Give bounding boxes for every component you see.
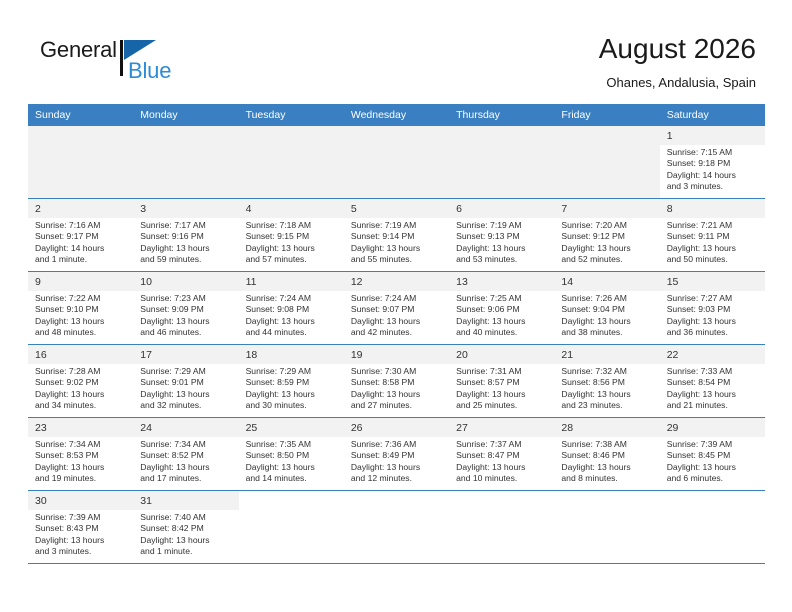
weekday-header-sunday: Sunday [28, 104, 133, 126]
sunrise-text: Sunrise: 7:34 AM [140, 439, 233, 450]
daylight-text-line1: Daylight: 14 hours [35, 243, 128, 254]
calendar-week-row: 16Sunrise: 7:28 AMSunset: 9:02 PMDayligh… [28, 345, 765, 418]
calendar-day-cell[interactable]: 10Sunrise: 7:23 AMSunset: 9:09 PMDayligh… [133, 272, 238, 345]
calendar-day-cell[interactable]: 14Sunrise: 7:26 AMSunset: 9:04 PMDayligh… [554, 272, 659, 345]
weekday-header-wednesday: Wednesday [344, 104, 449, 126]
sunrise-text: Sunrise: 7:21 AM [667, 220, 760, 231]
calendar-cell-empty[interactable] [28, 126, 133, 199]
day-number: 9 [28, 272, 133, 291]
calendar-day-cell[interactable]: 17Sunrise: 7:29 AMSunset: 9:01 PMDayligh… [133, 345, 238, 418]
sunset-text: Sunset: 8:53 PM [35, 450, 128, 461]
daylight-text-line1: Daylight: 13 hours [246, 389, 339, 400]
sunset-text: Sunset: 9:03 PM [667, 304, 760, 315]
daylight-text-line2: and 3 minutes. [667, 181, 760, 192]
sunrise-text: Sunrise: 7:31 AM [456, 366, 549, 377]
sunset-text: Sunset: 8:42 PM [140, 523, 233, 534]
daylight-text-line2: and 1 minute. [35, 254, 128, 265]
daylight-text-line2: and 59 minutes. [140, 254, 233, 265]
day-number: 10 [133, 272, 238, 291]
daylight-text-line1: Daylight: 14 hours [667, 170, 760, 181]
calendar-cell-empty[interactable] [660, 491, 765, 564]
calendar-day-cell[interactable]: 16Sunrise: 7:28 AMSunset: 9:02 PMDayligh… [28, 345, 133, 418]
calendar-day-cell[interactable]: 8Sunrise: 7:21 AMSunset: 9:11 PMDaylight… [660, 199, 765, 272]
day-number: 13 [449, 272, 554, 291]
daylight-text-line2: and 46 minutes. [140, 327, 233, 338]
sunrise-text: Sunrise: 7:35 AM [246, 439, 339, 450]
day-details: Sunrise: 7:18 AMSunset: 9:15 PMDaylight:… [239, 218, 344, 266]
calendar-day-cell[interactable]: 29Sunrise: 7:39 AMSunset: 8:45 PMDayligh… [660, 418, 765, 491]
sunset-text: Sunset: 8:54 PM [667, 377, 760, 388]
daylight-text-line1: Daylight: 13 hours [351, 316, 444, 327]
day-number: 2 [28, 199, 133, 218]
daylight-text-line2: and 53 minutes. [456, 254, 549, 265]
calendar-day-cell[interactable]: 12Sunrise: 7:24 AMSunset: 9:07 PMDayligh… [344, 272, 449, 345]
calendar-cell-empty[interactable] [449, 491, 554, 564]
sunset-text: Sunset: 9:01 PM [140, 377, 233, 388]
day-number: 18 [239, 345, 344, 364]
day-number-placeholder [554, 126, 659, 145]
calendar-cell-empty[interactable] [239, 126, 344, 199]
sunrise-text: Sunrise: 7:38 AM [561, 439, 654, 450]
sunset-text: Sunset: 8:49 PM [351, 450, 444, 461]
sunrise-text: Sunrise: 7:16 AM [35, 220, 128, 231]
calendar-week-row: 2Sunrise: 7:16 AMSunset: 9:17 PMDaylight… [28, 199, 765, 272]
sunrise-text: Sunrise: 7:34 AM [35, 439, 128, 450]
daylight-text-line1: Daylight: 13 hours [351, 462, 444, 473]
day-number: 8 [660, 199, 765, 218]
sunrise-text: Sunrise: 7:29 AM [246, 366, 339, 377]
sunset-text: Sunset: 9:16 PM [140, 231, 233, 242]
sunrise-text: Sunrise: 7:39 AM [667, 439, 760, 450]
day-number-placeholder [133, 126, 238, 145]
calendar-cell-empty[interactable] [449, 126, 554, 199]
calendar-day-cell[interactable]: 31Sunrise: 7:40 AMSunset: 8:42 PMDayligh… [133, 491, 238, 564]
daylight-text-line1: Daylight: 13 hours [246, 243, 339, 254]
day-details: Sunrise: 7:20 AMSunset: 9:12 PMDaylight:… [554, 218, 659, 266]
daylight-text-line2: and 23 minutes. [561, 400, 654, 411]
daylight-text-line2: and 50 minutes. [667, 254, 760, 265]
daylight-text-line2: and 3 minutes. [35, 546, 128, 557]
sunset-text: Sunset: 9:10 PM [35, 304, 128, 315]
calendar-day-cell[interactable]: 21Sunrise: 7:32 AMSunset: 8:56 PMDayligh… [554, 345, 659, 418]
day-details: Sunrise: 7:28 AMSunset: 9:02 PMDaylight:… [28, 364, 133, 412]
sunset-text: Sunset: 9:09 PM [140, 304, 233, 315]
daylight-text-line2: and 12 minutes. [351, 473, 444, 484]
calendar-cell-empty[interactable] [239, 491, 344, 564]
day-number-placeholder [239, 126, 344, 145]
day-number-placeholder [28, 126, 133, 145]
daylight-text-line2: and 55 minutes. [351, 254, 444, 265]
sunset-text: Sunset: 8:50 PM [246, 450, 339, 461]
day-number: 16 [28, 345, 133, 364]
calendar-grid: Sunday Monday Tuesday Wednesday Thursday… [28, 104, 765, 564]
daylight-text-line1: Daylight: 13 hours [561, 389, 654, 400]
brand-triangle-icon [124, 40, 156, 60]
day-number: 15 [660, 272, 765, 291]
sunrise-text: Sunrise: 7:17 AM [140, 220, 233, 231]
day-number: 1 [660, 126, 765, 145]
day-number: 24 [133, 418, 238, 437]
calendar-day-cell[interactable]: 26Sunrise: 7:36 AMSunset: 8:49 PMDayligh… [344, 418, 449, 491]
sunrise-text: Sunrise: 7:36 AM [351, 439, 444, 450]
daylight-text-line1: Daylight: 13 hours [456, 316, 549, 327]
daylight-text-line2: and 25 minutes. [456, 400, 549, 411]
calendar-day-cell[interactable]: 18Sunrise: 7:29 AMSunset: 8:59 PMDayligh… [239, 345, 344, 418]
brand-logo[interactable]: General Blue [40, 38, 240, 94]
day-number: 14 [554, 272, 659, 291]
daylight-text-line1: Daylight: 13 hours [667, 389, 760, 400]
day-details: Sunrise: 7:21 AMSunset: 9:11 PMDaylight:… [660, 218, 765, 266]
sunset-text: Sunset: 8:52 PM [140, 450, 233, 461]
calendar-day-cell[interactable]: 24Sunrise: 7:34 AMSunset: 8:52 PMDayligh… [133, 418, 238, 491]
day-number: 3 [133, 199, 238, 218]
calendar-day-cell[interactable]: 2Sunrise: 7:16 AMSunset: 9:17 PMDaylight… [28, 199, 133, 272]
sunrise-text: Sunrise: 7:29 AM [140, 366, 233, 377]
day-details: Sunrise: 7:33 AMSunset: 8:54 PMDaylight:… [660, 364, 765, 412]
sunset-text: Sunset: 9:13 PM [456, 231, 549, 242]
calendar-day-cell[interactable]: 22Sunrise: 7:33 AMSunset: 8:54 PMDayligh… [660, 345, 765, 418]
daylight-text-line2: and 17 minutes. [140, 473, 233, 484]
day-number: 19 [344, 345, 449, 364]
calendar-day-cell[interactable]: 19Sunrise: 7:30 AMSunset: 8:58 PMDayligh… [344, 345, 449, 418]
daylight-text-line1: Daylight: 13 hours [140, 462, 233, 473]
day-details: Sunrise: 7:16 AMSunset: 9:17 PMDaylight:… [28, 218, 133, 266]
day-details: Sunrise: 7:36 AMSunset: 8:49 PMDaylight:… [344, 437, 449, 485]
sunset-text: Sunset: 9:12 PM [561, 231, 654, 242]
daylight-text-line2: and 21 minutes. [667, 400, 760, 411]
day-details: Sunrise: 7:25 AMSunset: 9:06 PMDaylight:… [449, 291, 554, 339]
sunset-text: Sunset: 9:18 PM [667, 158, 760, 169]
daylight-text-line1: Daylight: 13 hours [456, 243, 549, 254]
calendar-day-cell[interactable]: 9Sunrise: 7:22 AMSunset: 9:10 PMDaylight… [28, 272, 133, 345]
daylight-text-line1: Daylight: 13 hours [561, 316, 654, 327]
day-number: 6 [449, 199, 554, 218]
sunset-text: Sunset: 8:58 PM [351, 377, 444, 388]
daylight-text-line1: Daylight: 13 hours [561, 243, 654, 254]
day-details: Sunrise: 7:29 AMSunset: 8:59 PMDaylight:… [239, 364, 344, 412]
calendar-week-row: 1Sunrise: 7:15 AMSunset: 9:18 PMDaylight… [28, 126, 765, 199]
sunrise-text: Sunrise: 7:32 AM [561, 366, 654, 377]
sunset-text: Sunset: 9:07 PM [351, 304, 444, 315]
page-subtitle: Ohanes, Andalusia, Spain [599, 74, 756, 92]
daylight-text-line2: and 1 minute. [140, 546, 233, 557]
day-details: Sunrise: 7:39 AMSunset: 8:45 PMDaylight:… [660, 437, 765, 485]
daylight-text-line1: Daylight: 13 hours [351, 389, 444, 400]
day-details: Sunrise: 7:31 AMSunset: 8:57 PMDaylight:… [449, 364, 554, 412]
sunset-text: Sunset: 8:43 PM [35, 523, 128, 534]
day-number: 22 [660, 345, 765, 364]
day-number: 7 [554, 199, 659, 218]
day-details: Sunrise: 7:24 AMSunset: 9:08 PMDaylight:… [239, 291, 344, 339]
daylight-text-line2: and 48 minutes. [35, 327, 128, 338]
sunrise-text: Sunrise: 7:20 AM [561, 220, 654, 231]
daylight-text-line1: Daylight: 13 hours [35, 389, 128, 400]
sunset-text: Sunset: 9:04 PM [561, 304, 654, 315]
day-number: 12 [344, 272, 449, 291]
sunrise-text: Sunrise: 7:15 AM [667, 147, 760, 158]
day-details: Sunrise: 7:29 AMSunset: 9:01 PMDaylight:… [133, 364, 238, 412]
calendar-day-cell[interactable]: 15Sunrise: 7:27 AMSunset: 9:03 PMDayligh… [660, 272, 765, 345]
day-number: 21 [554, 345, 659, 364]
calendar-cell-empty[interactable] [344, 491, 449, 564]
calendar-day-cell[interactable]: 4Sunrise: 7:18 AMSunset: 9:15 PMDaylight… [239, 199, 344, 272]
calendar-page: General Blue August 2026 Ohanes, Andalus… [0, 0, 792, 612]
day-number: 27 [449, 418, 554, 437]
calendar-day-cell[interactable]: 20Sunrise: 7:31 AMSunset: 8:57 PMDayligh… [449, 345, 554, 418]
daylight-text-line1: Daylight: 13 hours [456, 389, 549, 400]
day-details: Sunrise: 7:32 AMSunset: 8:56 PMDaylight:… [554, 364, 659, 412]
sunrise-text: Sunrise: 7:30 AM [351, 366, 444, 377]
day-number: 4 [239, 199, 344, 218]
calendar-week-row: 9Sunrise: 7:22 AMSunset: 9:10 PMDaylight… [28, 272, 765, 345]
weekday-header-saturday: Saturday [660, 104, 765, 126]
daylight-text-line2: and 27 minutes. [351, 400, 444, 411]
daylight-text-line1: Daylight: 13 hours [140, 389, 233, 400]
daylight-text-line1: Daylight: 13 hours [351, 243, 444, 254]
day-number: 20 [449, 345, 554, 364]
sunset-text: Sunset: 8:46 PM [561, 450, 654, 461]
weekday-header-tuesday: Tuesday [239, 104, 344, 126]
day-number: 11 [239, 272, 344, 291]
daylight-text-line1: Daylight: 13 hours [561, 462, 654, 473]
daylight-text-line1: Daylight: 13 hours [140, 535, 233, 546]
sunrise-text: Sunrise: 7:18 AM [246, 220, 339, 231]
day-details: Sunrise: 7:39 AMSunset: 8:43 PMDaylight:… [28, 510, 133, 558]
day-details: Sunrise: 7:34 AMSunset: 8:53 PMDaylight:… [28, 437, 133, 485]
daylight-text-line1: Daylight: 13 hours [667, 316, 760, 327]
day-number-placeholder [344, 126, 449, 145]
calendar-day-cell[interactable]: 25Sunrise: 7:35 AMSunset: 8:50 PMDayligh… [239, 418, 344, 491]
day-number: 17 [133, 345, 238, 364]
calendar-day-cell[interactable]: 3Sunrise: 7:17 AMSunset: 9:16 PMDaylight… [133, 199, 238, 272]
day-number-placeholder [449, 126, 554, 145]
daylight-text-line2: and 36 minutes. [667, 327, 760, 338]
sunset-text: Sunset: 9:08 PM [246, 304, 339, 315]
weekday-header-monday: Monday [133, 104, 238, 126]
daylight-text-line2: and 40 minutes. [456, 327, 549, 338]
day-number: 31 [133, 491, 238, 510]
daylight-text-line1: Daylight: 13 hours [35, 316, 128, 327]
sunset-text: Sunset: 8:47 PM [456, 450, 549, 461]
day-details: Sunrise: 7:17 AMSunset: 9:16 PMDaylight:… [133, 218, 238, 266]
daylight-text-line2: and 19 minutes. [35, 473, 128, 484]
sunrise-text: Sunrise: 7:33 AM [667, 366, 760, 377]
calendar-cell-empty[interactable] [344, 126, 449, 199]
daylight-text-line2: and 57 minutes. [246, 254, 339, 265]
daylight-text-line1: Daylight: 13 hours [456, 462, 549, 473]
daylight-text-line1: Daylight: 13 hours [246, 462, 339, 473]
sunrise-text: Sunrise: 7:40 AM [140, 512, 233, 523]
daylight-text-line1: Daylight: 13 hours [667, 243, 760, 254]
sunrise-text: Sunrise: 7:37 AM [456, 439, 549, 450]
calendar-day-cell[interactable]: 30Sunrise: 7:39 AMSunset: 8:43 PMDayligh… [28, 491, 133, 564]
sunset-text: Sunset: 9:11 PM [667, 231, 760, 242]
sunrise-text: Sunrise: 7:39 AM [35, 512, 128, 523]
sunset-text: Sunset: 8:57 PM [456, 377, 549, 388]
day-number: 5 [344, 199, 449, 218]
day-number: 29 [660, 418, 765, 437]
sunrise-text: Sunrise: 7:22 AM [35, 293, 128, 304]
day-details: Sunrise: 7:40 AMSunset: 8:42 PMDaylight:… [133, 510, 238, 558]
day-details: Sunrise: 7:27 AMSunset: 9:03 PMDaylight:… [660, 291, 765, 339]
sunrise-text: Sunrise: 7:28 AM [35, 366, 128, 377]
day-details: Sunrise: 7:37 AMSunset: 8:47 PMDaylight:… [449, 437, 554, 485]
sunrise-text: Sunrise: 7:27 AM [667, 293, 760, 304]
day-details: Sunrise: 7:34 AMSunset: 8:52 PMDaylight:… [133, 437, 238, 485]
sunrise-text: Sunrise: 7:24 AM [351, 293, 444, 304]
daylight-text-line2: and 8 minutes. [561, 473, 654, 484]
sunrise-text: Sunrise: 7:19 AM [351, 220, 444, 231]
brand-divider-bar [120, 40, 123, 76]
day-number: 26 [344, 418, 449, 437]
daylight-text-line2: and 38 minutes. [561, 327, 654, 338]
daylight-text-line2: and 44 minutes. [246, 327, 339, 338]
calendar-body: 1Sunrise: 7:15 AMSunset: 9:18 PMDaylight… [28, 126, 765, 564]
weekday-header-friday: Friday [554, 104, 659, 126]
daylight-text-line2: and 30 minutes. [246, 400, 339, 411]
sunrise-text: Sunrise: 7:19 AM [456, 220, 549, 231]
sunset-text: Sunset: 9:06 PM [456, 304, 549, 315]
day-details: Sunrise: 7:22 AMSunset: 9:10 PMDaylight:… [28, 291, 133, 339]
sunset-text: Sunset: 9:02 PM [35, 377, 128, 388]
daylight-text-line1: Daylight: 13 hours [35, 462, 128, 473]
daylight-text-line2: and 10 minutes. [456, 473, 549, 484]
daylight-text-line2: and 52 minutes. [561, 254, 654, 265]
sunrise-text: Sunrise: 7:23 AM [140, 293, 233, 304]
daylight-text-line1: Daylight: 13 hours [140, 316, 233, 327]
page-title: August 2026 [599, 32, 756, 66]
sunrise-text: Sunrise: 7:24 AM [246, 293, 339, 304]
daylight-text-line1: Daylight: 13 hours [246, 316, 339, 327]
day-details: Sunrise: 7:15 AMSunset: 9:18 PMDaylight:… [660, 145, 765, 193]
day-details: Sunrise: 7:24 AMSunset: 9:07 PMDaylight:… [344, 291, 449, 339]
calendar-week-row: 23Sunrise: 7:34 AMSunset: 8:53 PMDayligh… [28, 418, 765, 491]
calendar-day-cell[interactable]: 1Sunrise: 7:15 AMSunset: 9:18 PMDaylight… [660, 126, 765, 199]
calendar-header-row: Sunday Monday Tuesday Wednesday Thursday… [28, 104, 765, 126]
calendar-day-cell[interactable]: 5Sunrise: 7:19 AMSunset: 9:14 PMDaylight… [344, 199, 449, 272]
calendar-day-cell[interactable]: 27Sunrise: 7:37 AMSunset: 8:47 PMDayligh… [449, 418, 554, 491]
daylight-text-line2: and 32 minutes. [140, 400, 233, 411]
day-number: 28 [554, 418, 659, 437]
weekday-header-thursday: Thursday [449, 104, 554, 126]
daylight-text-line2: and 42 minutes. [351, 327, 444, 338]
sunset-text: Sunset: 8:59 PM [246, 377, 339, 388]
day-details: Sunrise: 7:38 AMSunset: 8:46 PMDaylight:… [554, 437, 659, 485]
sunset-text: Sunset: 8:45 PM [667, 450, 760, 461]
day-number: 23 [28, 418, 133, 437]
calendar-cell-empty[interactable] [133, 126, 238, 199]
day-number: 30 [28, 491, 133, 510]
sunset-text: Sunset: 9:14 PM [351, 231, 444, 242]
calendar-day-cell[interactable]: 7Sunrise: 7:20 AMSunset: 9:12 PMDaylight… [554, 199, 659, 272]
day-details: Sunrise: 7:30 AMSunset: 8:58 PMDaylight:… [344, 364, 449, 412]
daylight-text-line2: and 14 minutes. [246, 473, 339, 484]
daylight-text-line2: and 6 minutes. [667, 473, 760, 484]
daylight-text-line2: and 34 minutes. [35, 400, 128, 411]
day-number: 25 [239, 418, 344, 437]
calendar-week-row: 30Sunrise: 7:39 AMSunset: 8:43 PMDayligh… [28, 491, 765, 564]
day-details: Sunrise: 7:26 AMSunset: 9:04 PMDaylight:… [554, 291, 659, 339]
calendar-day-cell[interactable]: 23Sunrise: 7:34 AMSunset: 8:53 PMDayligh… [28, 418, 133, 491]
calendar-cell-empty[interactable] [554, 126, 659, 199]
calendar-day-cell[interactable]: 28Sunrise: 7:38 AMSunset: 8:46 PMDayligh… [554, 418, 659, 491]
title-block: August 2026 Ohanes, Andalusia, Spain [599, 32, 756, 92]
page-header: General Blue August 2026 Ohanes, Andalus… [0, 0, 792, 104]
day-details: Sunrise: 7:23 AMSunset: 9:09 PMDaylight:… [133, 291, 238, 339]
brand-name-general: General [40, 38, 117, 62]
daylight-text-line1: Daylight: 13 hours [667, 462, 760, 473]
sunset-text: Sunset: 8:56 PM [561, 377, 654, 388]
calendar-cell-empty[interactable] [554, 491, 659, 564]
daylight-text-line1: Daylight: 13 hours [35, 535, 128, 546]
calendar-day-cell[interactable]: 6Sunrise: 7:19 AMSunset: 9:13 PMDaylight… [449, 199, 554, 272]
calendar-day-cell[interactable]: 13Sunrise: 7:25 AMSunset: 9:06 PMDayligh… [449, 272, 554, 345]
day-details: Sunrise: 7:19 AMSunset: 9:13 PMDaylight:… [449, 218, 554, 266]
day-details: Sunrise: 7:19 AMSunset: 9:14 PMDaylight:… [344, 218, 449, 266]
daylight-text-line1: Daylight: 13 hours [140, 243, 233, 254]
sunrise-text: Sunrise: 7:25 AM [456, 293, 549, 304]
day-details: Sunrise: 7:35 AMSunset: 8:50 PMDaylight:… [239, 437, 344, 485]
brand-name-blue: Blue [128, 59, 171, 83]
calendar-day-cell[interactable]: 11Sunrise: 7:24 AMSunset: 9:08 PMDayligh… [239, 272, 344, 345]
sunrise-text: Sunrise: 7:26 AM [561, 293, 654, 304]
sunset-text: Sunset: 9:15 PM [246, 231, 339, 242]
sunset-text: Sunset: 9:17 PM [35, 231, 128, 242]
